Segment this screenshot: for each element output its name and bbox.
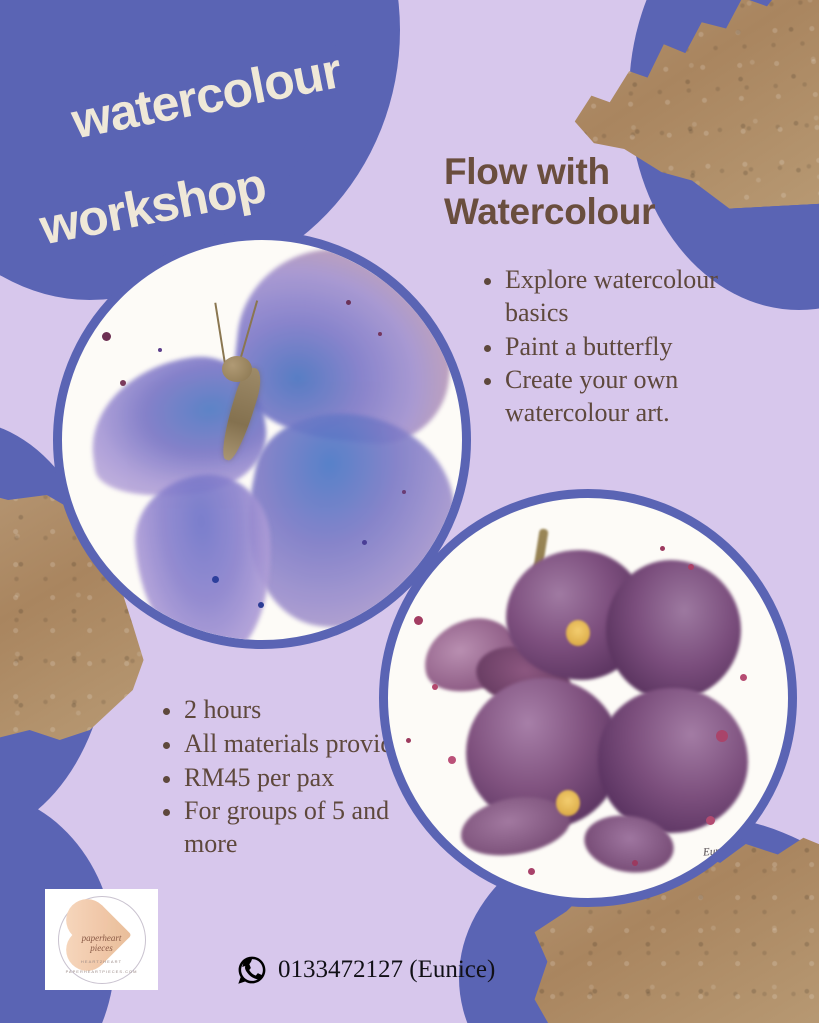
orchid-canvas: Eunice 9/3/23 xyxy=(388,498,788,898)
paint-splatter xyxy=(716,730,728,742)
list-item: Create your own watercolour art. xyxy=(478,364,778,430)
artwork-signature: Eunice 9/3/23 xyxy=(702,841,764,858)
section-heading-line-1: Flow with xyxy=(444,152,794,192)
poster-canvas: watercolour workshop Flow with Watercolo… xyxy=(0,0,819,1023)
paint-splatter xyxy=(212,576,219,583)
logo-tagline: HEART2HEART xyxy=(45,959,158,964)
section-heading: Flow with Watercolour xyxy=(444,152,794,232)
orchid-artwork: Eunice 9/3/23 xyxy=(379,489,797,907)
paint-splatter xyxy=(632,860,638,866)
paint-splatter xyxy=(402,490,406,494)
butterfly-head xyxy=(222,356,252,382)
logo-website: PAPERHEARTPIECES.COM xyxy=(45,969,158,974)
features-list: Explore watercolour basics Paint a butte… xyxy=(478,264,778,431)
list-item: RM45 per pax xyxy=(157,762,422,795)
paint-splatter xyxy=(362,540,367,545)
paint-splatter xyxy=(660,546,665,551)
section-heading-line-2: Watercolour xyxy=(444,192,794,232)
paint-splatter xyxy=(432,684,438,690)
orchid-lip-2 xyxy=(556,790,580,816)
orchid-bloom-2 xyxy=(606,560,741,700)
paint-splatter xyxy=(528,868,535,875)
paint-splatter xyxy=(448,756,456,764)
orchid-bloom-4 xyxy=(598,688,748,833)
butterfly-antenna-left xyxy=(214,303,226,365)
contact-phone[interactable]: 0133472127 (Eunice) xyxy=(278,956,495,984)
orchid-lip-1 xyxy=(566,620,590,646)
paint-splatter xyxy=(102,332,111,341)
logo-brand-line-2: pieces xyxy=(45,944,158,954)
paint-splatter xyxy=(258,602,264,608)
paint-splatter xyxy=(414,616,423,625)
paint-splatter xyxy=(740,674,747,681)
list-item: For groups of 5 and more xyxy=(157,795,422,861)
paint-splatter xyxy=(346,300,351,305)
contact-row[interactable]: 0133472127 (Eunice) xyxy=(236,954,495,986)
paint-splatter xyxy=(158,348,162,352)
whatsapp-icon[interactable] xyxy=(236,954,268,986)
logo-brand-name: paperheart pieces xyxy=(45,934,158,954)
paint-splatter xyxy=(120,380,126,386)
paint-splatter xyxy=(688,564,694,570)
poster-title-line-1: watercolour xyxy=(67,42,345,149)
paint-splatter xyxy=(378,332,382,336)
brand-logo: paperheart pieces HEART2HEART PAPERHEART… xyxy=(45,889,158,990)
paint-splatter xyxy=(706,816,715,825)
list-item: Paint a butterfly xyxy=(478,331,778,364)
list-item: Explore watercolour basics xyxy=(478,264,778,330)
poster-title-line-2: workshop xyxy=(36,142,363,252)
paint-splatter xyxy=(406,738,411,743)
